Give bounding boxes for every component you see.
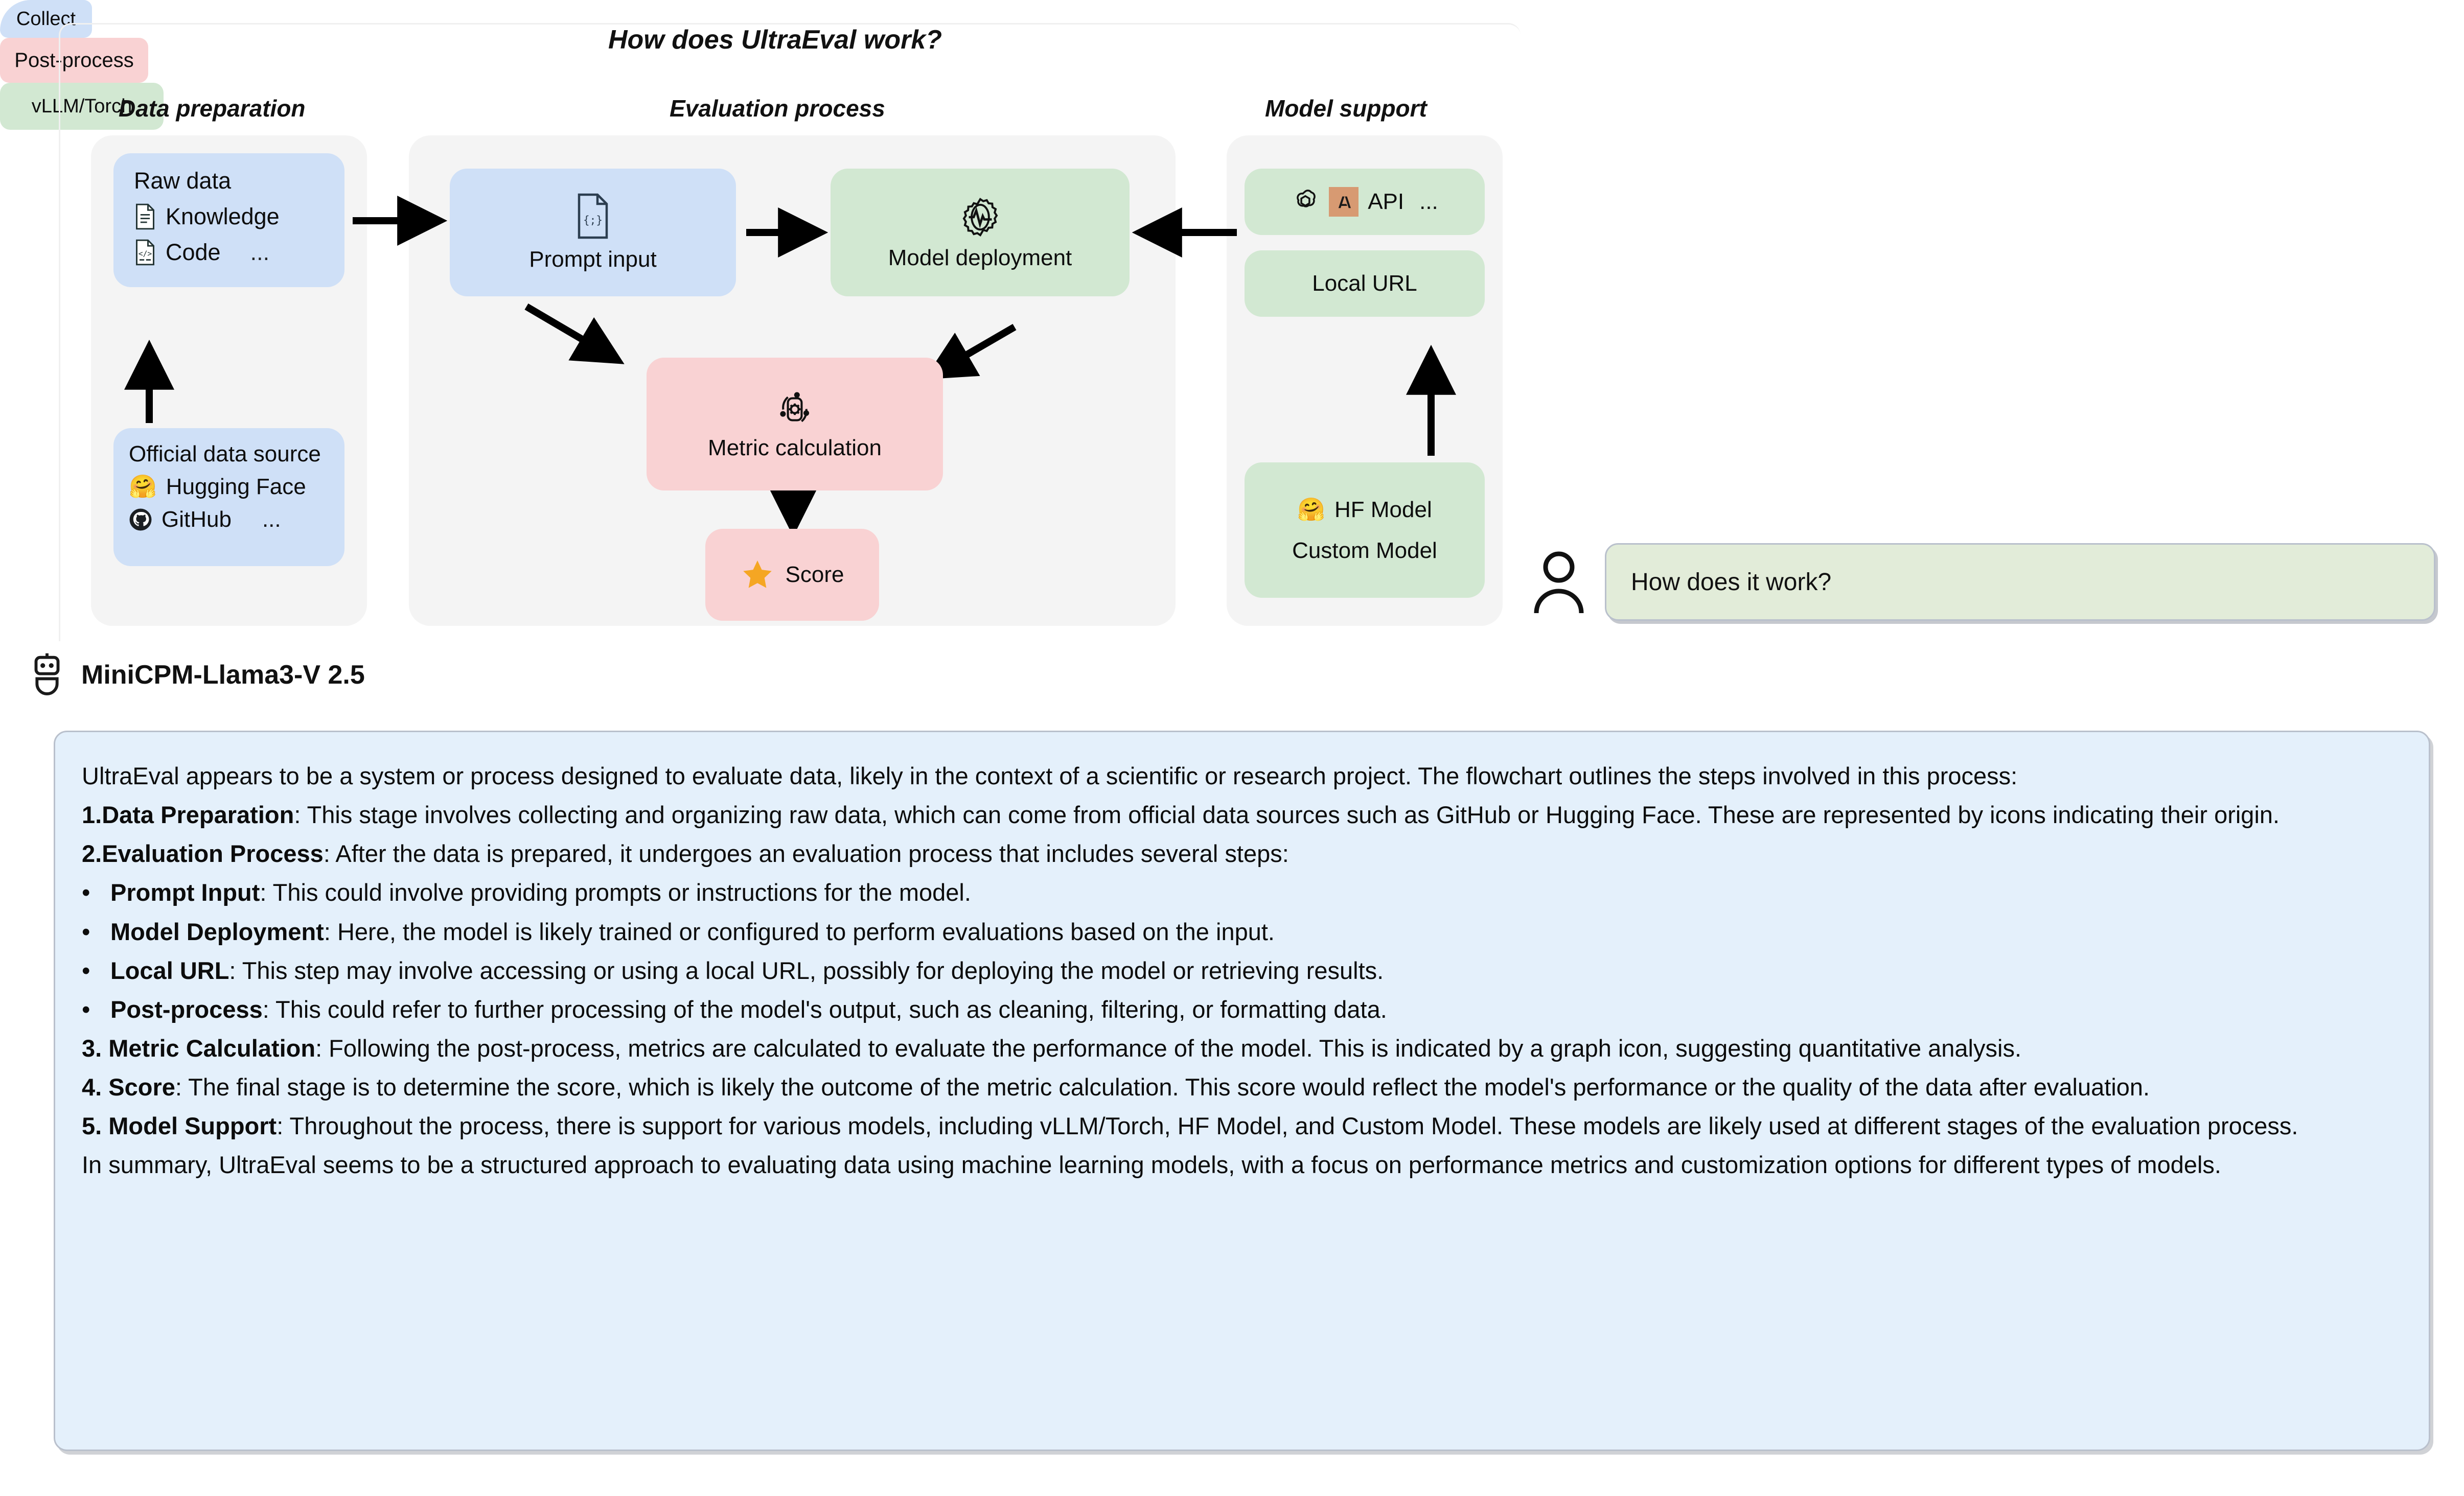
anthropic-icon [1329,187,1358,217]
column-title-evaluation-process: Evaluation process [670,95,885,122]
assistant-paragraph: 2.Evaluation Process: After the data is … [82,834,2402,873]
official-source-label-hugging-face: Hugging Face [166,474,306,500]
user-avatar-icon [1528,547,1590,618]
column-title-model-support: Model support [1265,95,1427,122]
assistant-name: MiniCPM-Llama3-V 2.5 [81,660,365,690]
official-source-item-hugging-face: 🤗 Hugging Face [129,474,344,500]
local-url-label: Local URL [1312,271,1417,296]
paragraph-heading: 5. Model Support [82,1112,277,1139]
robot-icon [28,651,66,698]
github-icon [129,508,152,531]
paragraph-heading: Post-process [110,996,263,1023]
assistant-paragraph: •Local URL: This step may involve access… [82,951,2402,990]
raw-data-label-knowledge: Knowledge [166,203,280,230]
diagram-card: How does UltraEval work? Data preparatio… [0,0,1523,641]
assistant-header: MiniCPM-Llama3-V 2.5 [28,651,365,698]
raw-data-ellipsis: ... [250,239,270,266]
api-ellipsis: ... [1419,189,1438,215]
hf-model-label: HF Model [1334,497,1432,523]
assistant-paragraph: •Model Deployment: Here, the model is li… [82,913,2402,951]
svg-text:</>: </> [139,249,152,258]
custom-model-label: Custom Model [1292,538,1437,564]
user-turn: How does it work? [1528,534,2448,636]
model-deployment-label: Model deployment [888,245,1072,271]
raw-data-item-knowledge: Knowledge [134,203,344,230]
node-prompt-input[interactable]: {;} Prompt input [450,169,736,296]
code-file-icon: </> [134,239,156,266]
assistant-paragraph: UltraEval appears to be a system or proc… [82,757,2402,796]
assistant-paragraph: •Prompt Input: This could involve provid… [82,873,2402,912]
paragraph-heading: 3. Metric Calculation [82,1035,315,1062]
official-source-title: Official data source [129,441,344,467]
bullet-marker: • [82,951,110,990]
node-local-url[interactable]: Local URL [1245,250,1485,317]
bullet-marker: • [82,990,110,1029]
paragraph-heading: Model Deployment [110,918,324,945]
node-api[interactable]: API ... [1245,169,1485,235]
hugging-face-icon: 🤗 [1297,499,1325,521]
assistant-message-bubble: UltraEval appears to be a system or proc… [54,731,2430,1451]
document-icon [134,203,156,230]
raw-data-label-code: Code [166,239,221,266]
diagram-main-title: How does UltraEval work? [608,25,942,55]
user-message-bubble: How does it work? [1605,543,2435,621]
node-model-deployment[interactable]: Model deployment [831,169,1130,296]
gear-pulse-icon [957,194,1003,240]
hugging-face-icon: 🤗 [129,476,157,498]
official-source-label-github: GitHub [162,507,232,532]
metric-calculation-label: Metric calculation [708,435,882,461]
svg-text:{;}: {;} [583,214,603,226]
hf-model-row: 🤗 HF Model [1297,497,1432,523]
paragraph-heading: Prompt Input [110,879,260,906]
raw-data-item-code: </> Code ... [134,239,344,266]
official-source-item-github: GitHub ... [129,507,344,532]
paragraph-heading: Local URL [110,957,229,984]
assistant-paragraph: 3. Metric Calculation: Following the pos… [82,1029,2402,1068]
star-icon [741,558,774,592]
node-raw-data[interactable]: Raw data Knowledge </> Code ... [113,153,344,287]
bullet-marker: • [82,913,110,951]
raw-data-title: Raw data [134,168,344,194]
assistant-paragraph: 1.Data Preparation: This stage involves … [82,796,2402,834]
api-label: API [1368,189,1404,215]
node-score[interactable]: Score [705,529,879,621]
node-metric-calculation[interactable]: Metric calculation [647,358,943,490]
assistant-paragraph: 4. Score: The final stage is to determin… [82,1068,2402,1107]
paragraph-heading: 2.Evaluation Process [82,840,324,867]
assistant-message-body: UltraEval appears to be a system or proc… [82,757,2402,1184]
openai-icon [1291,188,1320,216]
node-hf-and-custom-model[interactable]: 🤗 HF Model Custom Model [1245,462,1485,598]
prompt-input-label: Prompt input [529,247,656,272]
assistant-paragraph: In summary, UltraEval seems to be a stru… [82,1146,2402,1184]
assistant-paragraph: 5. Model Support: Throughout the process… [82,1107,2402,1146]
metric-orbit-icon [773,387,817,431]
node-official-data-source[interactable]: Official data source 🤗 Hugging Face GitH… [113,428,344,566]
user-message-text: How does it work? [1631,568,1831,596]
json-document-icon: {;} [574,193,611,240]
paragraph-heading: 4. Score [82,1073,175,1101]
official-source-ellipsis: ... [262,507,281,532]
score-label: Score [786,562,844,588]
assistant-paragraph: •Post-process: This could refer to furth… [82,990,2402,1029]
bullet-marker: • [82,873,110,912]
paragraph-heading: 1.Data Preparation [82,801,294,828]
column-title-data-preparation: Data preparation [119,95,306,122]
